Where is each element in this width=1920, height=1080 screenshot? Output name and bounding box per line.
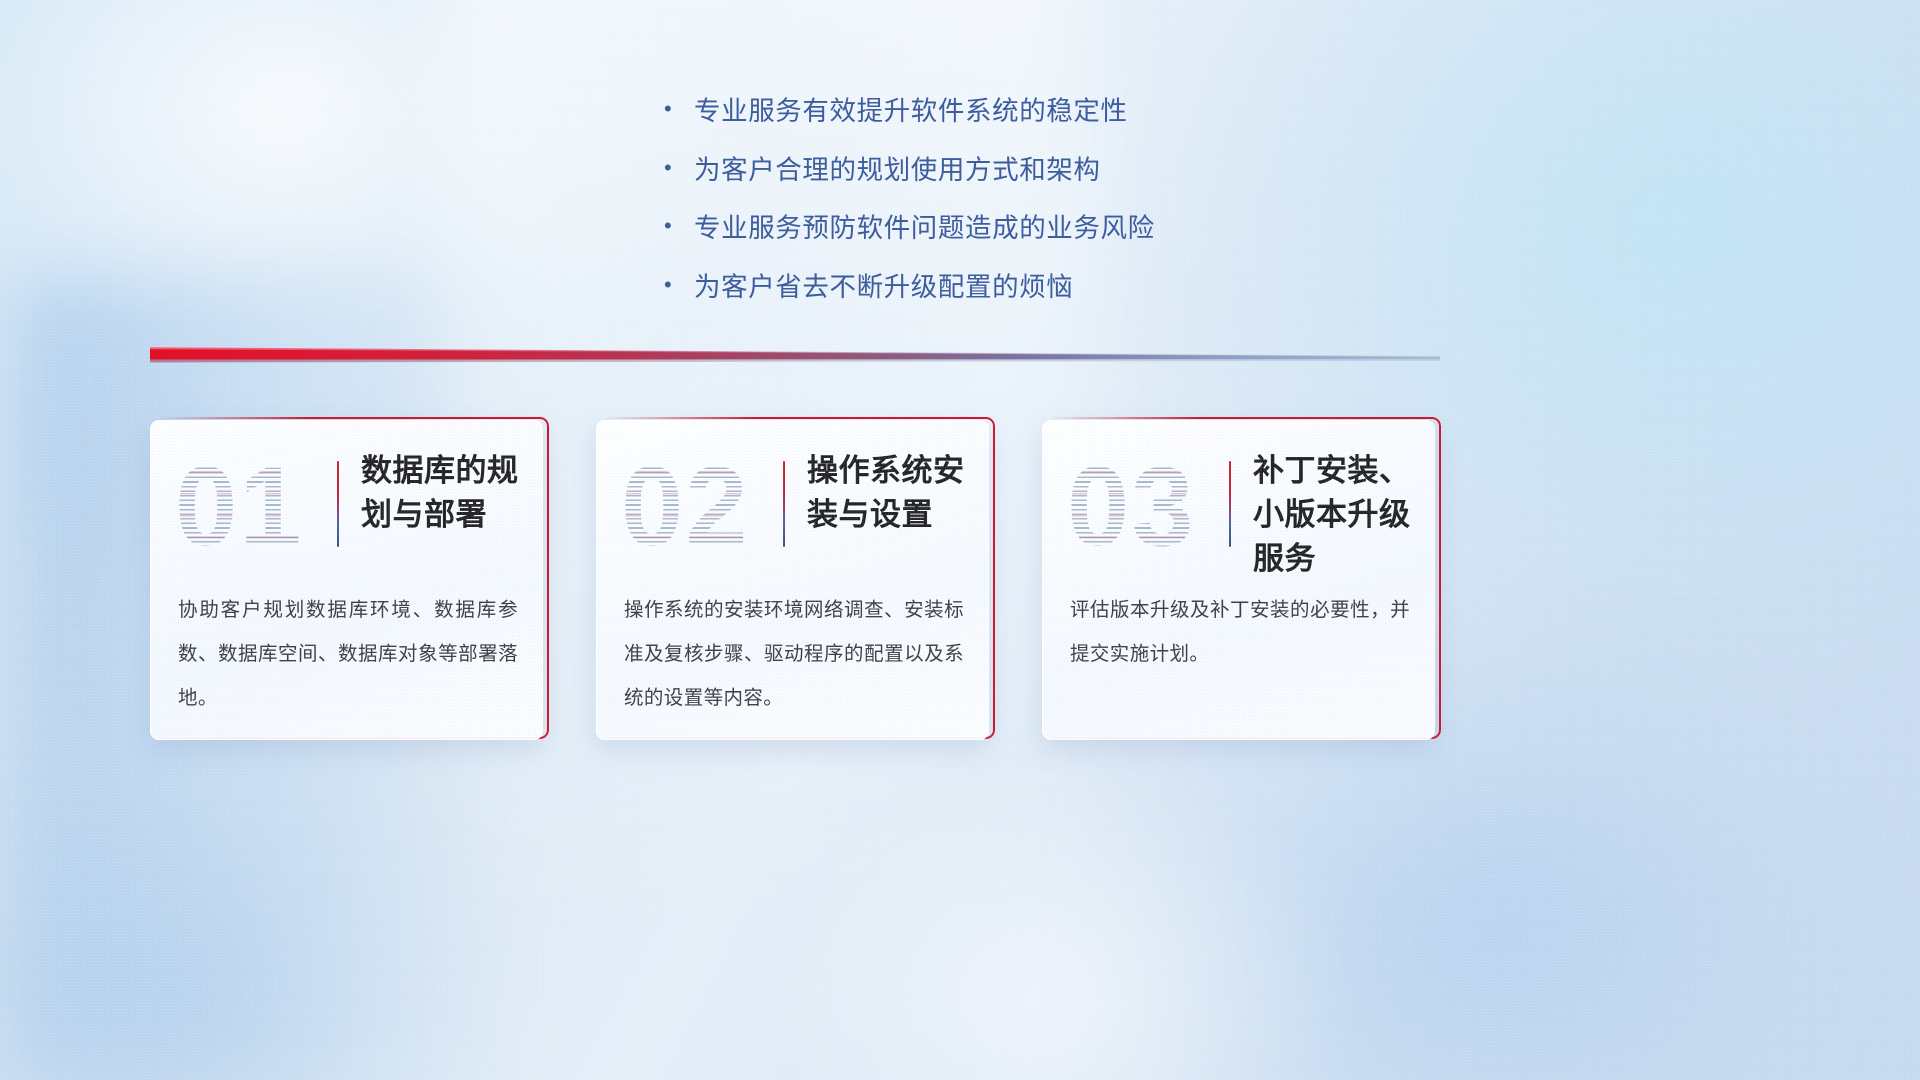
bullet-dot-icon: • <box>664 274 694 296</box>
card-header: 01 01 数据库的规划与部署 <box>151 445 542 569</box>
bullet-text: 为客户合理的规划使用方式和架构 <box>694 145 1101 197</box>
service-card-03[interactable]: 03 03 补丁安装、小版本升级服务 评估版本升级及补丁安装的必要性，并提交实施… <box>1042 420 1435 740</box>
list-item: • 为客户合理的规划使用方式和架构 <box>640 145 1280 197</box>
service-cards: 01 01 数据库的规划与部署 协助客户规划数据库环境、数据库参数、数据库空间、… <box>0 420 1920 750</box>
card-title: 操作系统安装与设置 <box>807 449 973 537</box>
bullet-text: 专业服务预防软件问题造成的业务风险 <box>694 203 1155 255</box>
card-title: 数据库的规划与部署 <box>361 449 527 537</box>
section-divider <box>150 344 1440 370</box>
card-number-watermark-tint: 01 <box>175 449 304 565</box>
service-card-01[interactable]: 01 01 数据库的规划与部署 协助客户规划数据库环境、数据库参数、数据库空间、… <box>150 420 543 740</box>
card-title: 补丁安装、小版本升级服务 <box>1253 449 1419 581</box>
card-description: 操作系统的安装环境网络调查、安装标准及复核步骤、驱动程序的配置以及系统的设置等内… <box>624 589 964 721</box>
bullet-text: 为客户省去不断升级配置的烦恼 <box>694 262 1073 314</box>
card-header: 03 03 补丁安装、小版本升级服务 <box>1043 445 1434 569</box>
card-description: 评估版本升级及补丁安装的必要性，并提交实施计划。 <box>1070 589 1410 677</box>
tapered-blade-divider-icon <box>150 344 1440 370</box>
list-item: • 专业服务预防软件问题造成的业务风险 <box>640 203 1280 255</box>
card-number-watermark-tint: 03 <box>1067 449 1196 565</box>
card-vertical-rule <box>337 461 339 547</box>
bullet-text: 专业服务有效提升软件系统的稳定性 <box>694 86 1128 138</box>
card-surface: 02 02 操作系统安装与设置 操作系统的安装环境网络调查、安装标准及复核步骤、… <box>596 420 989 740</box>
bullet-dot-icon: • <box>664 157 694 179</box>
card-surface: 01 01 数据库的规划与部署 协助客户规划数据库环境、数据库参数、数据库空间、… <box>150 420 543 740</box>
benefits-bullet-list: • 专业服务有效提升软件系统的稳定性 • 为客户合理的规划使用方式和架构 • 专… <box>0 86 1920 321</box>
bullet-dot-icon: • <box>664 215 694 237</box>
card-vertical-rule <box>1229 461 1231 547</box>
card-vertical-rule <box>783 461 785 547</box>
card-description: 协助客户规划数据库环境、数据库参数、数据库空间、数据库对象等部署落地。 <box>178 589 518 721</box>
card-number-watermark-tint: 02 <box>621 449 750 565</box>
card-surface: 03 03 补丁安装、小版本升级服务 评估版本升级及补丁安装的必要性，并提交实施… <box>1042 420 1435 740</box>
list-item: • 专业服务有效提升软件系统的稳定性 <box>640 86 1280 138</box>
card-header: 02 02 操作系统安装与设置 <box>597 445 988 569</box>
bullet-dot-icon: • <box>664 98 694 120</box>
list-item: • 为客户省去不断升级配置的烦恼 <box>640 262 1280 314</box>
service-card-02[interactable]: 02 02 操作系统安装与设置 操作系统的安装环境网络调查、安装标准及复核步骤、… <box>596 420 989 740</box>
